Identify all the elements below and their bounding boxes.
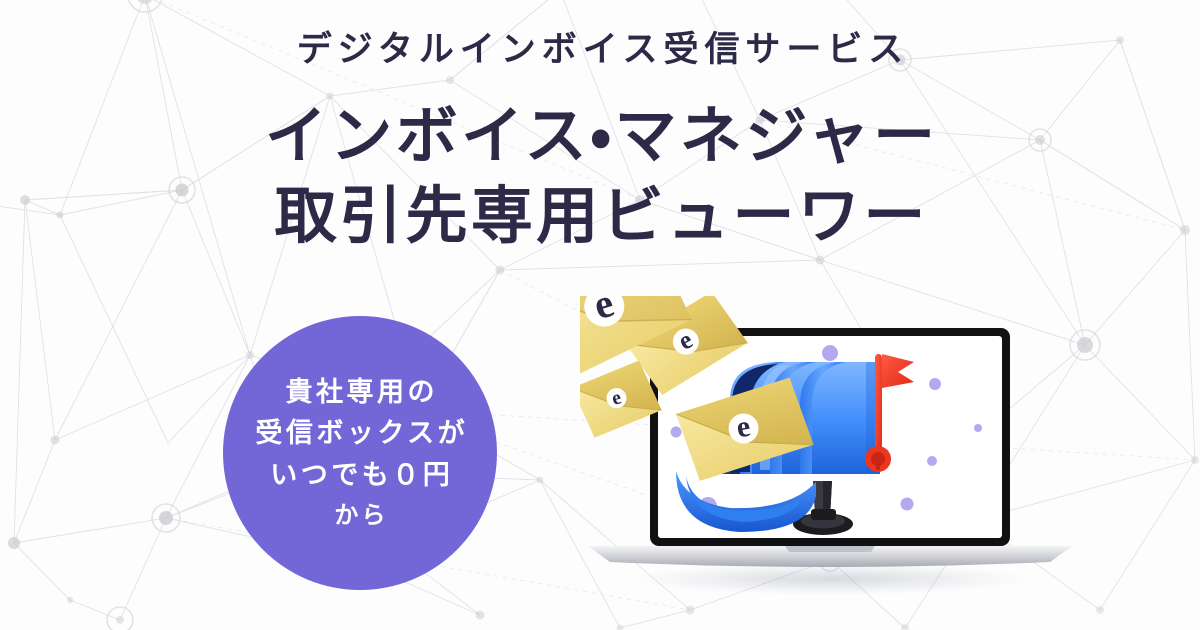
laptop-base-lip [785, 546, 875, 552]
badge-line-1: 貴社専用の [282, 372, 438, 414]
laptop-shadow [630, 563, 1030, 595]
badge-line-2: 受信ボックスが [252, 413, 468, 455]
page-title-line-1: インボイス・マネジャー [0, 98, 1200, 176]
badge-line-3: いつでも０円 [267, 455, 454, 497]
eyebrow-text: デジタルインボイス受信サービス [0, 28, 1200, 72]
badge-line-4: から [331, 497, 388, 534]
promo-banner: デジタルインボイス受信サービス インボイス・マネジャー 取引先専用ビューワー 貴… [0, 0, 1200, 630]
hero-illustration: e e e [580, 296, 1080, 596]
headline-block: デジタルインボイス受信サービス インボイス・マネジャー 取引先専用ビューワー [0, 28, 1200, 256]
price-badge: 貴社専用の 受信ボックスが いつでも０円 から [223, 316, 497, 590]
page-title-line-2: 取引先専用ビューワー [0, 178, 1200, 256]
